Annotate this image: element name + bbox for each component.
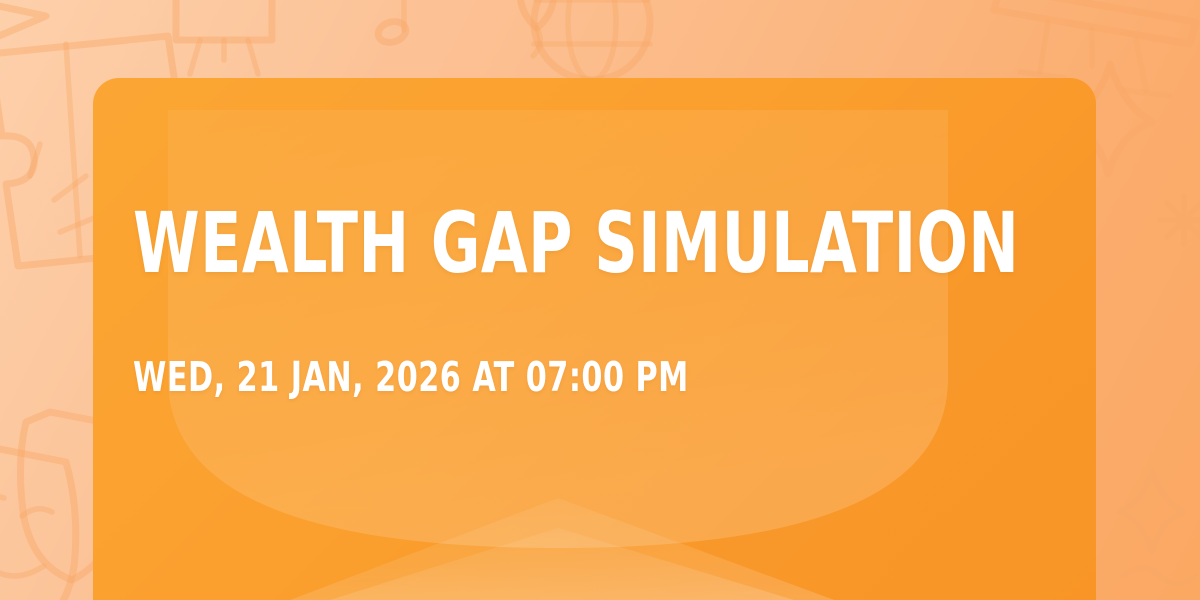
event-card: WEALTH GAP SIMULATION WED, 21 JAN, 2026 … — [93, 78, 1096, 600]
event-title: WEALTH GAP SIMULATION — [133, 196, 821, 290]
podium-icon — [176, 0, 272, 74]
confetti-icon-bottom — [1124, 568, 1196, 584]
confetti-icon — [30, 144, 94, 232]
star-burst-icon — [1160, 196, 1200, 244]
event-datetime: WED, 21 JAN, 2026 AT 07:00 PM — [133, 354, 838, 400]
balloon-icon — [520, 0, 554, 56]
event-text-block: WEALTH GAP SIMULATION WED, 21 JAN, 2026 … — [133, 196, 993, 400]
flag-icon — [0, 0, 46, 96]
globe-icon — [534, 0, 650, 80]
music-note-icon — [376, 0, 408, 45]
event-banner: WEALTH GAP SIMULATION WED, 21 JAN, 2026 … — [0, 0, 1200, 600]
sparkle-icon-bottom — [1120, 470, 1184, 552]
